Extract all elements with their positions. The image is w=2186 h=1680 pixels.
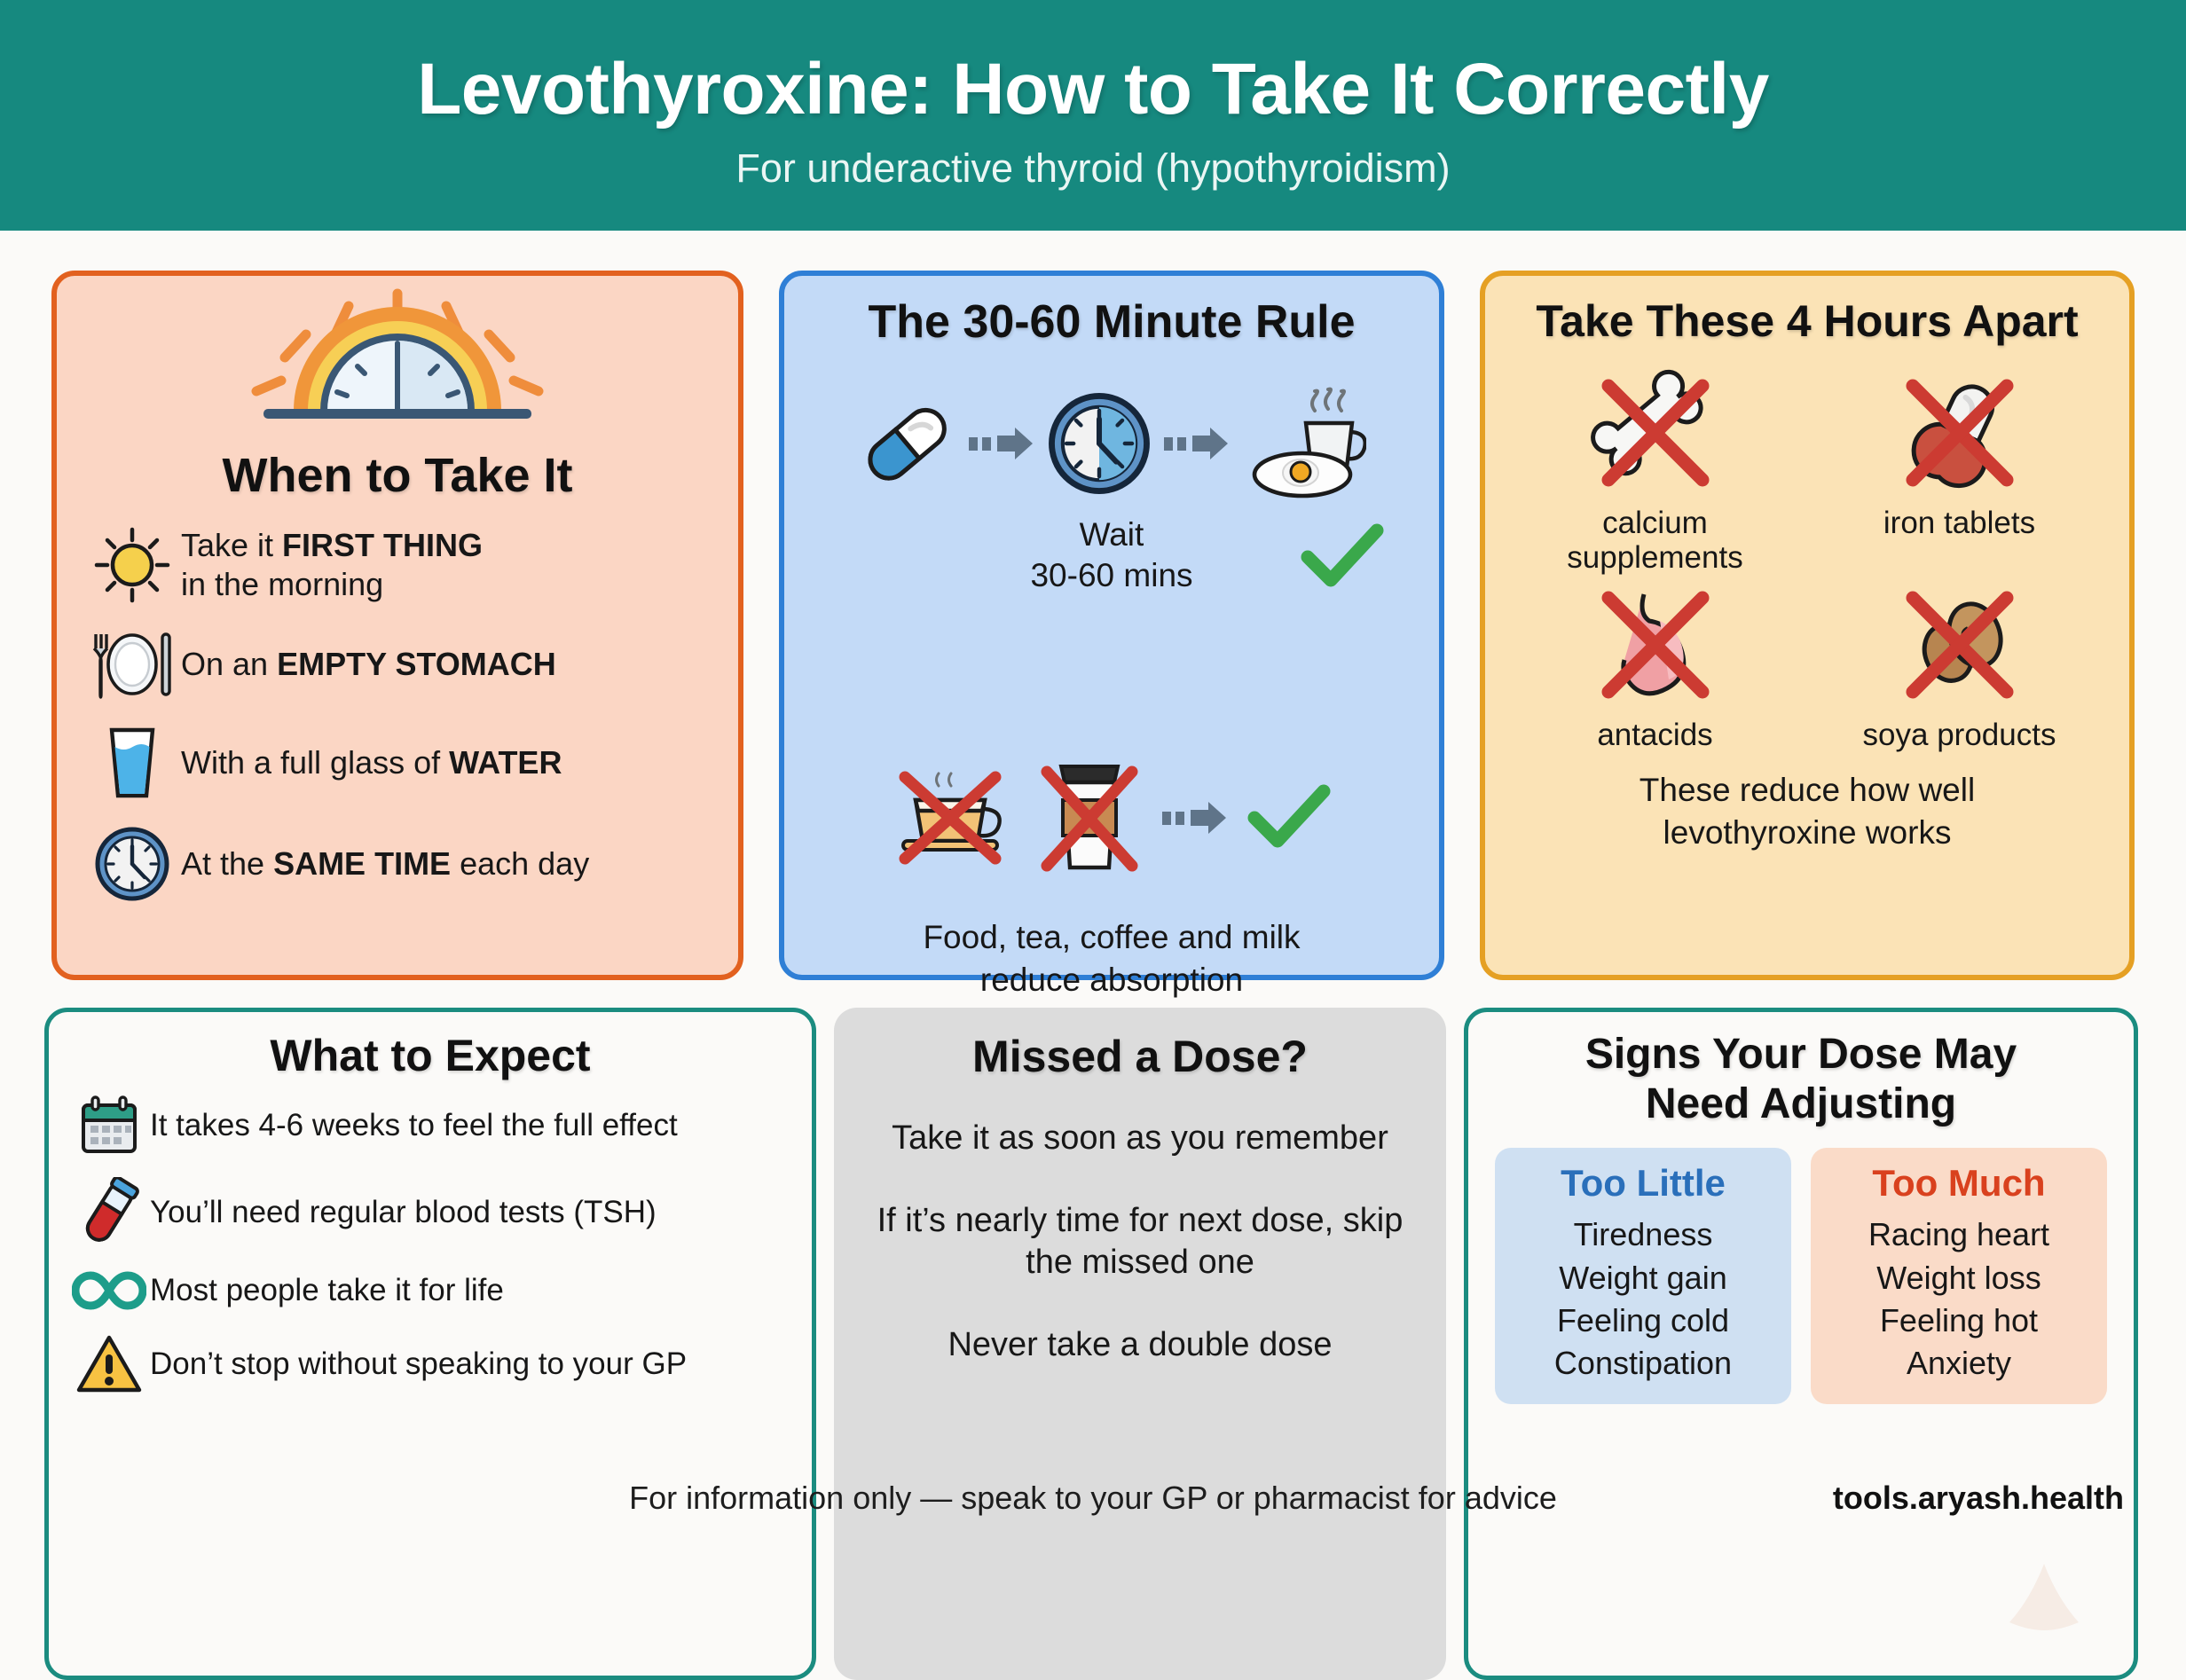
list-item-label: On an EMPTY STOMACH [181, 645, 556, 684]
avoid-item-label: antacids [1597, 718, 1712, 752]
calendar-icon [68, 1094, 150, 1158]
list-item: On an EMPTY STOMACH [83, 629, 719, 700]
column-too-much: Too Much Racing heart Weight loss Feelin… [1811, 1148, 2107, 1404]
apart-note: These reduce how well levothyroxine work… [1485, 769, 2129, 854]
symptom-item: Constipation [1502, 1342, 1784, 1385]
arrow-right-icon [1162, 800, 1228, 840]
sunrise-clock-illustration [57, 288, 738, 430]
rule-footer-caption: Food, tea, coffee and milk reduce absorp… [784, 916, 1439, 1001]
signs-title-line-2: Need Adjusting [1468, 1079, 2134, 1129]
rule-wait-caption: Wait 30-60 mins [784, 514, 1439, 621]
column-too-little: Too Little Tiredness Weight gain Feeling… [1495, 1148, 1791, 1404]
avoid-item-label: soya products [1863, 718, 2056, 752]
sun-icon [83, 527, 181, 603]
card-rule-title: The 30-60 Minute Rule [784, 295, 1439, 349]
clock-icon [83, 826, 181, 902]
card-when-to-take-it: When to Take It Take it FIRS [51, 271, 743, 980]
too-much-heading: Too Much [1818, 1162, 2100, 1205]
list-item-label: With a full glass of WATER [181, 743, 562, 782]
card-missed-a-dose: Missed a Dose? Take it as soon as you re… [834, 1008, 1446, 1680]
card-what-to-expect: What to Expect It takes 4-6 wee [44, 1008, 816, 1680]
clock-icon [1047, 391, 1152, 500]
too-much-symptom-list: Racing heart Weight loss Feeling hot Anx… [1818, 1213, 2100, 1385]
symptom-item: Feeling cold [1502, 1299, 1784, 1342]
missed-lines: Take it as soon as you remember If it’s … [834, 1118, 1446, 1366]
symptom-item: Racing heart [1818, 1213, 2100, 1256]
list-item-label: Most people take it for life [150, 1272, 504, 1310]
list-item: Take it FIRST THINGin the morning [83, 526, 719, 604]
no-soya-bean-icon [1893, 578, 2026, 716]
list-item-label: You’ll need regular blood tests (TSH) [150, 1194, 657, 1232]
card-take-4-hours-apart: Take These 4 Hours Apart calcium su [1480, 271, 2135, 980]
avoid-items-grid: calcium supplements [1485, 366, 2129, 753]
blood-test-tube-icon [68, 1177, 150, 1248]
plate-cutlery-icon [83, 629, 181, 700]
card-missed-title: Missed a Dose? [834, 1031, 1446, 1082]
no-antacid-stomach-icon [1589, 578, 1722, 716]
avoid-item-antacids: antacids [1503, 578, 1807, 752]
no-iron-tablet-icon [1893, 366, 2026, 504]
avoid-item-calcium: calcium supplements [1503, 366, 1807, 575]
page-title: Levothyroxine: How to Take It Correctly [417, 48, 1769, 131]
coffee-and-egg-icon [1242, 386, 1366, 506]
infinity-icon [68, 1268, 150, 1314]
card-signs-dose-adjusting: Signs Your Dose May Need Adjusting Too L… [1464, 1008, 2138, 1680]
rule-caption-line-2: reduce absorption [784, 959, 1439, 1001]
symptom-item: Feeling hot [1818, 1299, 2100, 1342]
missed-line: Take it as soon as you remember [869, 1118, 1411, 1159]
list-item-label: It takes 4-6 weeks to feel the full effe… [150, 1107, 678, 1145]
no-tea-icon [892, 765, 1017, 875]
card-when-title: When to Take It [57, 448, 738, 503]
too-little-heading: Too Little [1502, 1162, 1784, 1205]
symptom-item: Weight loss [1818, 1257, 2100, 1299]
card-grid: When to Take It Take it FIRS [0, 231, 2186, 1464]
brand-watermark-icon [1978, 1553, 2111, 1660]
card-expect-title: What to Expect [49, 1030, 812, 1081]
list-item: It takes 4-6 weeks to feel the full effe… [68, 1094, 798, 1158]
signs-columns: Too Little Tiredness Weight gain Feeling… [1468, 1148, 2134, 1404]
wait-line-1: Wait [925, 514, 1298, 555]
list-item-label: At the SAME TIME each day [181, 844, 589, 883]
expect-list: It takes 4-6 weeks to feel the full effe… [49, 1094, 812, 1395]
avoid-item-label: calcium supplements [1567, 506, 1742, 575]
green-check-icon [1247, 784, 1331, 856]
page-subtitle: For underactive thyroid (hypothyroidism) [735, 145, 1450, 192]
list-item: At the SAME TIME each day [83, 826, 719, 902]
card-30-60-minute-rule: The 30-60 Minute Rule [779, 271, 1444, 980]
card-signs-title: Signs Your Dose May Need Adjusting [1468, 1030, 2134, 1128]
missed-line: Never take a double dose [869, 1324, 1411, 1366]
apart-note-line-2: levothyroxine works [1485, 812, 2129, 854]
page-header: Levothyroxine: How to Take It Correctly … [0, 0, 2186, 231]
too-little-symptom-list: Tiredness Weight gain Feeling cold Const… [1502, 1213, 1784, 1385]
rule-flow-row-1 [784, 386, 1439, 506]
capsule-icon [857, 397, 956, 494]
wait-line-2: 30-60 mins [925, 555, 1298, 596]
water-glass-icon [83, 725, 181, 801]
symptom-item: Anxiety [1818, 1342, 2100, 1385]
rule-caption-line-1: Food, tea, coffee and milk [784, 916, 1439, 959]
avoid-item-soya: soya products [1807, 578, 2111, 752]
card-apart-title: Take These 4 Hours Apart [1485, 295, 2129, 347]
avoid-item-label: iron tablets [1883, 506, 2035, 540]
signs-title-line-1: Signs Your Dose May [1468, 1030, 2134, 1079]
list-item: You’ll need regular blood tests (TSH) [68, 1177, 798, 1248]
symptom-item: Weight gain [1502, 1257, 1784, 1299]
list-item: Most people take it for life [68, 1268, 798, 1314]
apart-note-line-1: These reduce how well [1485, 769, 2129, 812]
rule-flow-row-2 [784, 756, 1439, 884]
list-item-label: Don’t stop without speaking to your GP [150, 1346, 687, 1384]
page-footer: For information only — speak to your GP … [0, 1464, 2186, 1533]
list-item-label: Take it FIRST THINGin the morning [181, 526, 483, 604]
when-list: Take it FIRST THINGin the morning [57, 526, 738, 902]
list-item: Don’t stop without speaking to your GP [68, 1333, 798, 1395]
warning-triangle-icon [68, 1333, 150, 1395]
list-item: With a full glass of WATER [83, 725, 719, 801]
symptom-item: Tiredness [1502, 1213, 1784, 1256]
no-coffee-cup-icon [1036, 756, 1143, 884]
avoid-item-iron: iron tablets [1807, 366, 2111, 575]
footer-brand: tools.aryash.health [1833, 1480, 2124, 1517]
no-calcium-icon [1589, 366, 1722, 504]
arrow-right-icon [1164, 426, 1230, 466]
green-check-icon [1301, 523, 1384, 601]
missed-line: If it’s nearly time for next dose, skip … [869, 1200, 1411, 1284]
arrow-right-icon [969, 426, 1034, 466]
